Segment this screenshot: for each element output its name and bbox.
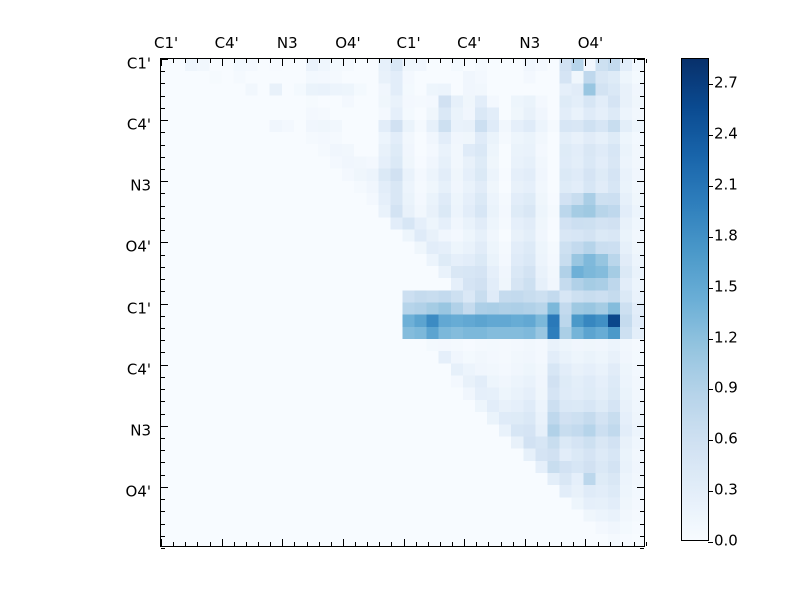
x-tick-mark [622, 542, 623, 546]
x-tick-mark [367, 59, 368, 63]
y-tick-mark [161, 83, 165, 84]
y-tick-mark [161, 426, 168, 427]
colorbar-tick-mark [708, 84, 713, 85]
x-tick-mark [476, 542, 477, 546]
x-tick-mark [185, 542, 186, 546]
y-tick-mark [640, 230, 644, 231]
x-tick-mark [343, 59, 344, 66]
y-tick-mark [640, 340, 644, 341]
x-tick-mark [319, 59, 320, 63]
x-tick-mark [173, 542, 174, 546]
y-tick-mark [161, 120, 168, 121]
x-tick-mark [294, 542, 295, 546]
y-tick-mark [161, 255, 165, 256]
x-tick-mark [428, 542, 429, 546]
y-tick-mark [161, 108, 165, 109]
y-tick-mark [640, 193, 644, 194]
y-tick-mark [161, 524, 165, 525]
y-tick-mark [161, 511, 165, 512]
y-tick-mark [640, 438, 644, 439]
y-tick-label: C4' [0, 362, 151, 377]
x-tick-mark [561, 59, 562, 63]
colorbar-tick-label: 1.8 [714, 228, 738, 243]
x-tick-mark [440, 59, 441, 63]
x-tick-mark [622, 59, 623, 63]
colorbar [681, 58, 709, 541]
colorbar-tick-label: 1.5 [714, 279, 738, 294]
y-tick-mark [637, 59, 644, 60]
y-tick-mark [640, 206, 644, 207]
x-tick-label: O4' [335, 36, 360, 51]
y-tick-mark [640, 145, 644, 146]
x-tick-label: C1' [154, 36, 178, 51]
x-tick-mark [282, 59, 283, 66]
y-tick-label: C4' [0, 118, 151, 133]
x-tick-mark [573, 59, 574, 63]
colorbar-tick-label: 0.9 [714, 381, 738, 396]
x-tick-mark [598, 59, 599, 63]
y-tick-mark [637, 426, 644, 427]
x-tick-mark [379, 59, 380, 63]
colorbar-tick-label: 1.2 [714, 330, 738, 345]
y-tick-mark [161, 462, 165, 463]
x-tick-mark [513, 542, 514, 546]
y-tick-mark [640, 377, 644, 378]
x-tick-mark [634, 542, 635, 546]
x-tick-mark [634, 59, 635, 63]
y-tick-mark [161, 242, 168, 243]
y-tick-mark [640, 157, 644, 158]
y-tick-mark [161, 169, 165, 170]
colorbar-tick-mark [708, 389, 713, 390]
colorbar-tick-mark [708, 491, 713, 492]
x-tick-mark [222, 539, 223, 546]
x-tick-mark [331, 59, 332, 63]
colorbar-tick-mark [708, 288, 713, 289]
x-tick-mark [440, 542, 441, 546]
y-tick-mark [640, 524, 644, 525]
y-tick-mark [640, 450, 644, 451]
x-tick-mark [476, 59, 477, 63]
x-tick-mark [379, 542, 380, 546]
x-tick-mark [428, 59, 429, 63]
figure-canvas: C1'C4'N3O4'C1'C4'N3O4' C1'C4'N3O4'C1'C4'… [0, 0, 800, 600]
colorbar-tick-label: 0.0 [714, 534, 738, 549]
colorbar-tick-label: 0.3 [714, 483, 738, 498]
x-tick-mark [537, 59, 538, 63]
x-tick-mark [355, 59, 356, 63]
colorbar-tick-mark [708, 542, 713, 543]
x-tick-mark [307, 542, 308, 546]
y-tick-mark [161, 352, 165, 353]
y-tick-mark [161, 377, 165, 378]
x-tick-mark [537, 542, 538, 546]
y-tick-mark [161, 218, 165, 219]
x-tick-mark [404, 59, 405, 66]
y-tick-mark [161, 193, 165, 194]
x-tick-mark [513, 59, 514, 63]
colorbar-tick-label: 2.7 [714, 76, 738, 91]
x-tick-mark [391, 542, 392, 546]
x-tick-mark [210, 59, 211, 63]
x-tick-mark [246, 59, 247, 63]
x-tick-mark [307, 59, 308, 63]
x-tick-mark [197, 542, 198, 546]
heatmap-axes [160, 58, 645, 547]
x-tick-mark [610, 59, 611, 63]
y-tick-mark [640, 279, 644, 280]
x-tick-mark [367, 542, 368, 546]
x-tick-mark [161, 539, 162, 546]
colorbar-tick-label: 2.4 [714, 127, 738, 142]
x-tick-mark [331, 542, 332, 546]
y-tick-mark [640, 255, 644, 256]
x-tick-mark [234, 542, 235, 546]
y-tick-mark [161, 96, 165, 97]
x-tick-mark [549, 59, 550, 63]
x-tick-mark [416, 59, 417, 63]
y-tick-mark [640, 389, 644, 390]
x-tick-mark [464, 59, 465, 66]
y-tick-label: C1' [0, 57, 151, 72]
y-tick-mark [161, 291, 165, 292]
y-tick-mark [640, 401, 644, 402]
y-tick-mark [161, 71, 165, 72]
colorbar-tick-mark [708, 339, 713, 340]
x-tick-mark [561, 542, 562, 546]
y-tick-mark [161, 145, 165, 146]
x-tick-mark [197, 59, 198, 63]
y-tick-mark [640, 499, 644, 500]
x-tick-mark [294, 59, 295, 63]
x-tick-mark [270, 59, 271, 63]
y-tick-mark [640, 267, 644, 268]
y-tick-mark [640, 475, 644, 476]
x-tick-mark [222, 59, 223, 66]
y-tick-mark [161, 401, 165, 402]
colorbar-tick-mark [708, 186, 713, 187]
x-tick-mark [246, 542, 247, 546]
y-tick-mark [640, 414, 644, 415]
colorbar-tick-mark [708, 440, 713, 441]
y-tick-mark [161, 340, 165, 341]
y-tick-mark [637, 487, 644, 488]
x-tick-mark [585, 539, 586, 546]
y-tick-label: O4' [0, 484, 151, 499]
y-tick-mark [637, 242, 644, 243]
y-tick-mark [637, 365, 644, 366]
x-tick-label: N3 [519, 36, 540, 51]
y-tick-mark [640, 218, 644, 219]
x-tick-mark [452, 59, 453, 63]
x-tick-label: C1' [396, 36, 420, 51]
colorbar-tick-label: 2.1 [714, 178, 738, 193]
y-tick-mark [640, 96, 644, 97]
y-tick-mark [161, 365, 168, 366]
x-tick-mark [173, 59, 174, 63]
heatmap-image [161, 59, 644, 546]
colorbar-gradient [682, 59, 708, 540]
y-tick-mark [161, 438, 165, 439]
x-tick-mark [319, 542, 320, 546]
x-tick-mark [501, 59, 502, 63]
y-tick-mark [640, 548, 644, 549]
y-tick-mark [161, 389, 165, 390]
y-tick-mark [161, 267, 165, 268]
y-tick-mark [161, 279, 165, 280]
x-tick-label: O4' [578, 36, 603, 51]
y-tick-mark [161, 316, 165, 317]
y-tick-mark [640, 83, 644, 84]
y-tick-mark [161, 414, 165, 415]
y-tick-mark [161, 59, 168, 60]
y-tick-mark [161, 450, 165, 451]
x-tick-mark [391, 59, 392, 63]
y-tick-mark [640, 328, 644, 329]
x-tick-mark [258, 59, 259, 63]
x-tick-mark [525, 539, 526, 546]
y-tick-mark [640, 536, 644, 537]
x-tick-mark [452, 542, 453, 546]
x-tick-mark [210, 542, 211, 546]
y-tick-mark [161, 475, 165, 476]
y-tick-mark [161, 548, 165, 549]
y-tick-mark [640, 108, 644, 109]
y-tick-mark [161, 181, 168, 182]
y-tick-mark [640, 71, 644, 72]
y-tick-mark [637, 120, 644, 121]
y-tick-mark [640, 316, 644, 317]
y-tick-mark [161, 328, 165, 329]
x-tick-mark [270, 542, 271, 546]
x-tick-mark [343, 539, 344, 546]
x-tick-mark [646, 542, 647, 546]
x-tick-mark [585, 59, 586, 66]
x-tick-mark [282, 539, 283, 546]
y-tick-label: C1' [0, 301, 151, 316]
y-tick-mark [161, 304, 168, 305]
y-tick-mark [640, 511, 644, 512]
y-tick-label: N3 [0, 423, 151, 438]
x-tick-mark [416, 542, 417, 546]
y-tick-label: N3 [0, 179, 151, 194]
x-tick-mark [525, 59, 526, 66]
y-tick-label: O4' [0, 240, 151, 255]
x-tick-label: C4' [215, 36, 239, 51]
x-tick-mark [573, 542, 574, 546]
y-tick-mark [161, 487, 168, 488]
x-tick-mark [234, 59, 235, 63]
y-tick-mark [161, 157, 165, 158]
x-tick-mark [488, 59, 489, 63]
y-tick-mark [637, 304, 644, 305]
x-tick-mark [598, 542, 599, 546]
y-tick-mark [640, 132, 644, 133]
x-tick-mark [501, 542, 502, 546]
y-tick-mark [640, 291, 644, 292]
x-tick-mark [549, 542, 550, 546]
x-tick-mark [185, 59, 186, 63]
x-tick-mark [464, 539, 465, 546]
colorbar-tick-mark [708, 135, 713, 136]
y-tick-mark [640, 462, 644, 463]
y-tick-mark [640, 169, 644, 170]
y-tick-mark [161, 499, 165, 500]
y-tick-mark [161, 132, 165, 133]
y-tick-mark [161, 230, 165, 231]
y-tick-mark [161, 206, 165, 207]
colorbar-tick-label: 0.6 [714, 432, 738, 447]
x-tick-mark [258, 542, 259, 546]
y-tick-mark [161, 536, 165, 537]
x-tick-mark [488, 542, 489, 546]
x-tick-label: N3 [277, 36, 298, 51]
x-tick-mark [404, 539, 405, 546]
x-tick-label: C4' [457, 36, 481, 51]
x-tick-mark [161, 59, 162, 66]
y-tick-mark [637, 181, 644, 182]
x-tick-mark [355, 542, 356, 546]
x-tick-mark [646, 59, 647, 63]
x-tick-mark [610, 542, 611, 546]
colorbar-tick-mark [708, 237, 713, 238]
y-tick-mark [640, 352, 644, 353]
